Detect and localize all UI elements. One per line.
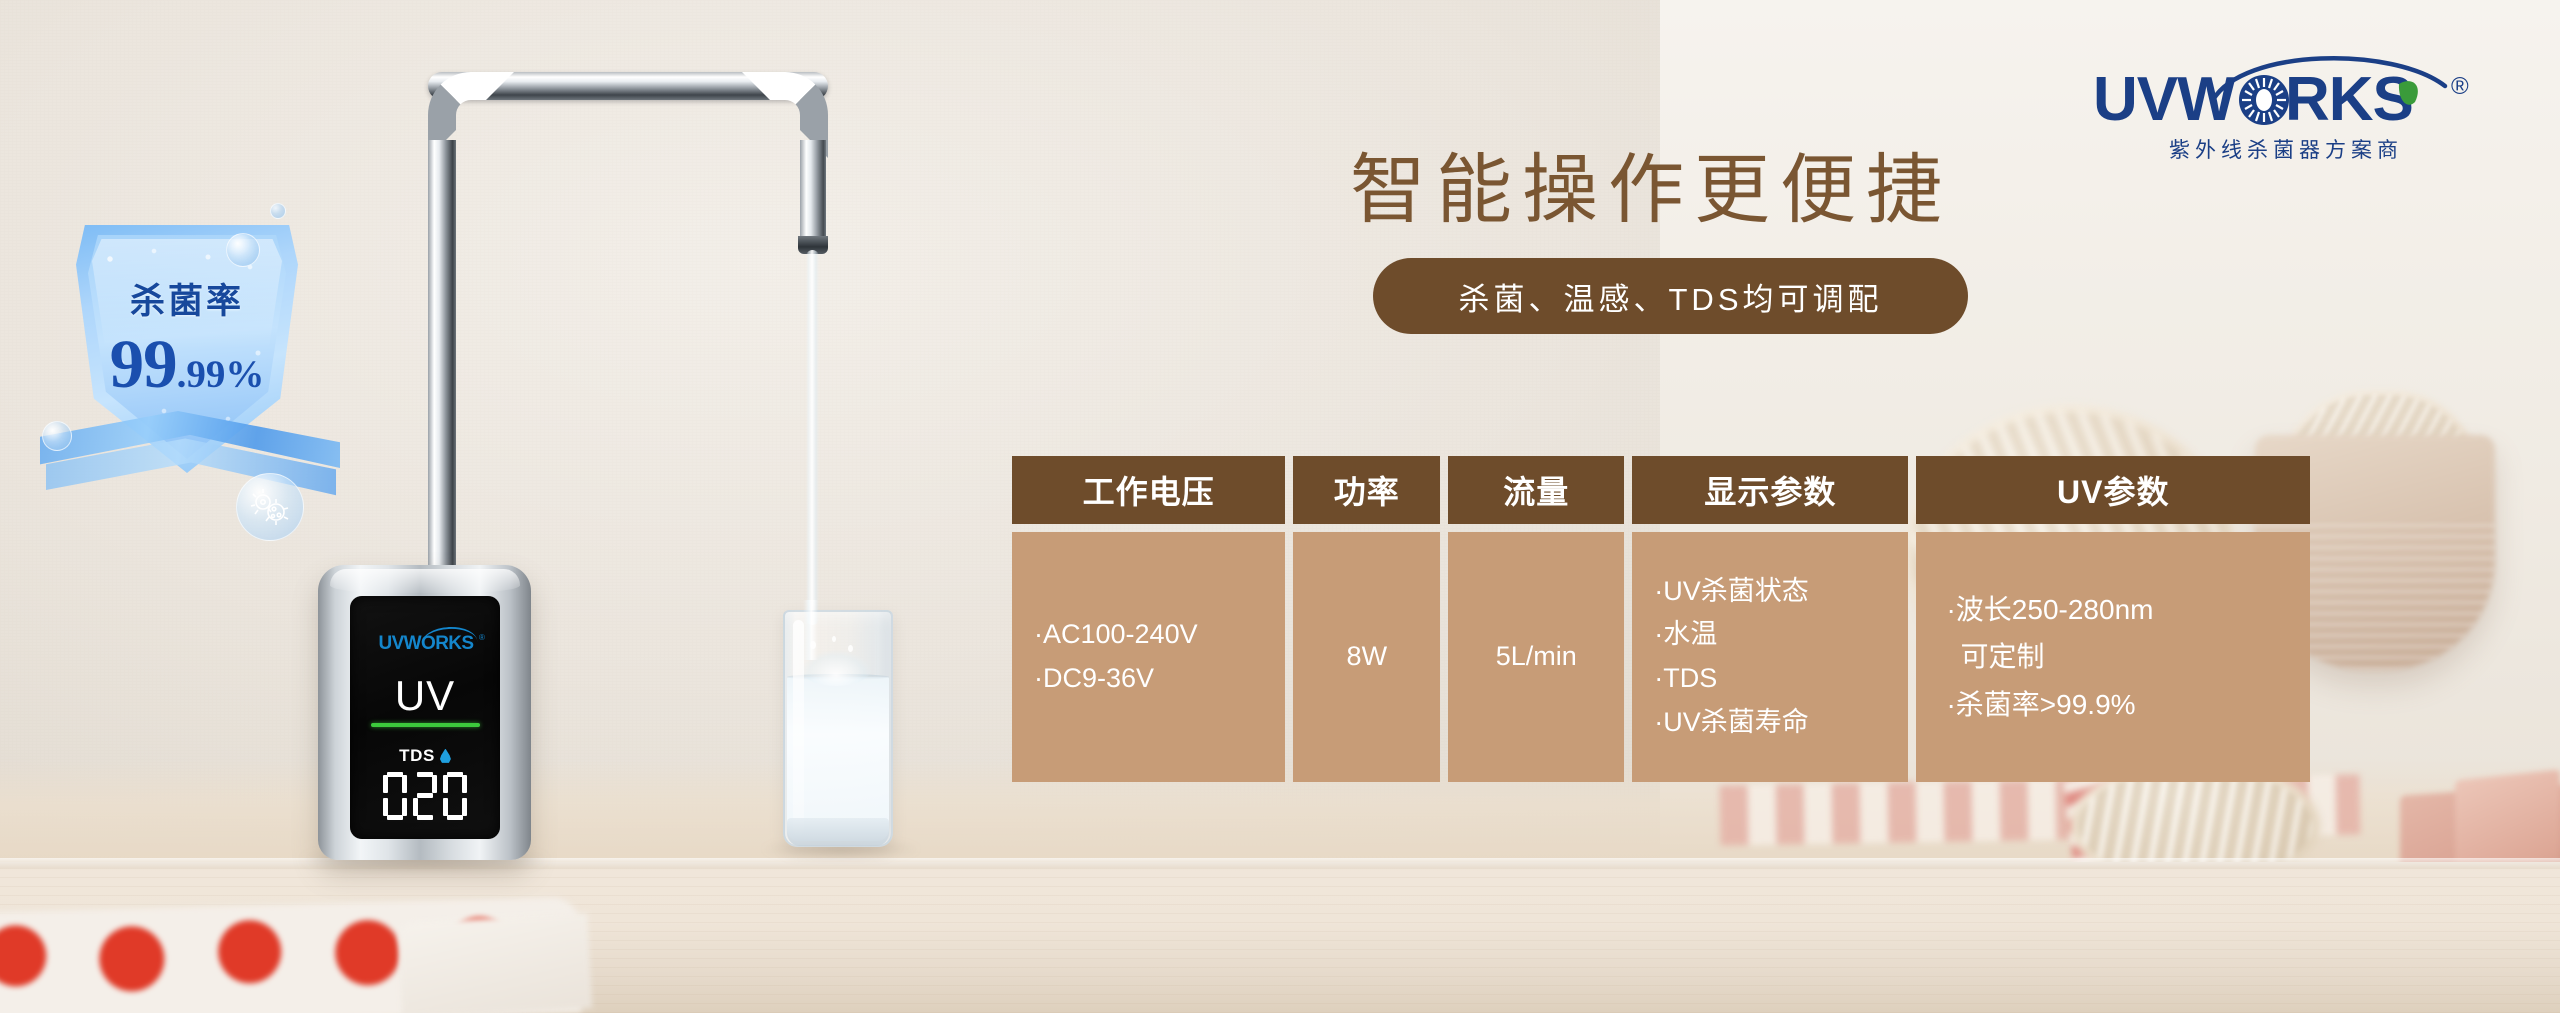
spec-line: 8W — [1347, 635, 1388, 679]
spec-line: 可定制 — [1946, 633, 2044, 681]
uvworks-logo-mark: UVW RKS ® — [2093, 38, 2493, 138]
badge-label: 杀菌率 — [76, 273, 298, 324]
device-tds-value-display — [383, 772, 467, 820]
device-top-highlight — [330, 569, 520, 593]
spec-column-uv: UV参数 ·波长250-280nm 可定制 ·杀菌率>99.9% — [1916, 456, 2310, 782]
logo-tagline: 紫外线杀菌器方案商 — [2093, 134, 2479, 164]
device-screen-logo: UVWORKS ® — [367, 633, 485, 659]
subtitle-pill: 杀菌、温感、TDS均可调配 — [1373, 258, 1968, 334]
spec-body-voltage: ·AC100-240V ·DC9-36V — [1012, 532, 1285, 782]
uvworks-logo: UVW RKS ® 紫外线杀菌器方案商 — [2093, 38, 2493, 166]
spec-body-uv: ·波长250-280nm 可定制 ·杀菌率>99.9% — [1916, 532, 2310, 782]
water-stream — [806, 250, 819, 625]
spec-column-power: 功率 8W — [1293, 456, 1440, 782]
water-stream-into-glass — [803, 600, 818, 660]
spec-header-voltage: 工作电压 — [1012, 456, 1285, 524]
spec-line: ·波长250-280nm — [1946, 586, 2153, 634]
spec-line: ·水温 — [1654, 613, 1717, 657]
glass-base — [787, 818, 889, 846]
product-banner: UVWORKS ® UV TDS 杀菌率 — [0, 0, 2560, 1013]
spec-column-display: 显示参数 ·UV杀菌状态 ·水温 ·TDS ·UV杀菌寿命 — [1632, 456, 1908, 782]
spec-line: ·杀菌率>99.9% — [1946, 681, 2135, 729]
spec-header-display: 显示参数 — [1632, 456, 1908, 524]
svg-text:UVW: UVW — [2093, 65, 2236, 134]
seven-segment-digit — [443, 772, 467, 820]
spec-header-power: 功率 — [1293, 456, 1440, 524]
spec-line: ·UV杀菌状态 — [1654, 570, 1809, 614]
page-title: 智能操作更便捷 — [1350, 128, 1990, 238]
device-status-bar — [371, 723, 480, 727]
bubble-icon — [270, 203, 286, 219]
spec-line: 5L/min — [1496, 635, 1577, 679]
badge-percent-main: 99 — [110, 326, 177, 402]
spec-header-flow: 流量 — [1448, 456, 1624, 524]
glass-highlight — [793, 620, 804, 835]
spec-body-display: ·UV杀菌状态 ·水温 ·TDS ·UV杀菌寿命 — [1632, 532, 1908, 782]
seven-segment-digit — [413, 772, 437, 820]
spec-line: ·TDS — [1654, 657, 1717, 701]
registered-mark-icon: ® — [479, 633, 485, 642]
faucet-body-column — [428, 140, 456, 600]
seven-segment-digit — [383, 772, 407, 820]
spec-header-uv: UV参数 — [1916, 456, 2310, 524]
device-tds-row: TDS — [350, 744, 500, 768]
spec-body-flow: 5L/min — [1448, 532, 1624, 782]
registered-mark-icon: ® — [2451, 73, 2469, 100]
svg-text:RKS: RKS — [2285, 65, 2413, 134]
polka-dot-cloth-fold — [398, 913, 593, 1013]
subtitle-pill-text: 杀菌、温感、TDS均可调配 — [1459, 274, 1883, 319]
badge-percent: 99.99% — [76, 325, 298, 404]
spec-column-voltage: 工作电压 ·AC100-240V ·DC9-36V — [1012, 456, 1285, 782]
germ-icon — [248, 485, 292, 529]
spec-line: ·DC9-36V — [1034, 657, 1154, 701]
sterilization-rate-badge: 杀菌率 99.99% — [40, 225, 340, 555]
spec-column-flow: 流量 5L/min — [1448, 456, 1624, 782]
water-droplet-icon — [440, 749, 451, 764]
faucet-spout-column — [800, 140, 826, 250]
bubble-icon — [42, 421, 72, 451]
spec-line: ·AC100-240V — [1034, 613, 1198, 657]
spec-body-power: 8W — [1293, 532, 1440, 782]
splash-droplet — [832, 636, 836, 642]
badge-percent-decimal: .99% — [177, 353, 265, 396]
bubble-icon — [226, 233, 260, 267]
device-tds-label: TDS — [399, 746, 435, 766]
spec-line: ·UV杀菌寿命 — [1654, 701, 1809, 745]
spec-table: 工作电压 ·AC100-240V ·DC9-36V 功率 8W 流量 5L/mi… — [1012, 456, 2310, 782]
splash-droplet — [848, 645, 853, 652]
device-mode-label: UV — [350, 672, 500, 720]
